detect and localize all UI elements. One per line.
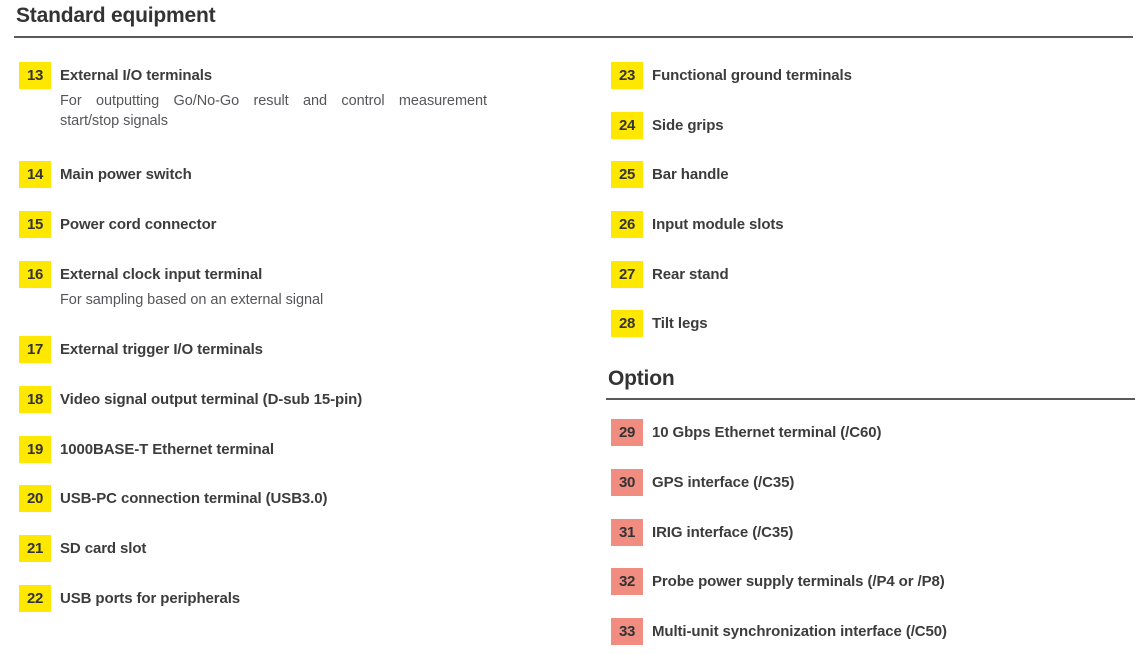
- item-description: For outputting Go/No-Go result and contr…: [60, 91, 487, 131]
- item-title: Tilt legs: [652, 310, 708, 337]
- item-number-badge: 30: [611, 469, 643, 496]
- item-number-badge: 29: [611, 419, 643, 446]
- section-heading-standard-equipment: Standard equipment: [16, 3, 215, 29]
- item-number-badge: 28: [611, 310, 643, 337]
- item-number-badge: 14: [19, 161, 51, 188]
- divider-option: [606, 398, 1135, 400]
- section-heading-option: Option: [608, 366, 674, 392]
- item-title: USB-PC connection terminal (USB3.0): [60, 485, 327, 512]
- item-title: Video signal output terminal (D-sub 15-p…: [60, 386, 362, 413]
- item-title: Main power switch: [60, 161, 192, 188]
- item-number-badge: 21: [19, 535, 51, 562]
- item-number-badge: 22: [19, 585, 51, 612]
- item-number-badge: 17: [19, 336, 51, 363]
- item-number-badge: 27: [611, 261, 643, 288]
- item-title: GPS interface (/C35): [652, 469, 794, 496]
- item-number-badge: 33: [611, 618, 643, 645]
- item-number-badge: 18: [19, 386, 51, 413]
- item-title: Probe power supply terminals (/P4 or /P8…: [652, 568, 945, 595]
- item-number-badge: 24: [611, 112, 643, 139]
- item-number-badge: 16: [19, 261, 51, 288]
- item-title: IRIG interface (/C35): [652, 519, 793, 546]
- item-title: Multi-unit synchronization interface (/C…: [652, 618, 947, 645]
- item-title: Rear stand: [652, 261, 729, 288]
- item-description: For sampling based on an external signal: [60, 290, 323, 310]
- item-number-badge: 13: [19, 62, 51, 89]
- legend-page: Standard equipment 13 External I/O termi…: [0, 0, 1140, 654]
- item-number-badge: 32: [611, 568, 643, 595]
- item-title: External trigger I/O terminals: [60, 336, 263, 363]
- item-number-badge: 15: [19, 211, 51, 238]
- item-title: SD card slot: [60, 535, 146, 562]
- item-number-badge: 31: [611, 519, 643, 546]
- item-title: 1000BASE-T Ethernet terminal: [60, 436, 274, 463]
- item-title: USB ports for peripherals: [60, 585, 240, 612]
- item-title: External clock input terminal: [60, 261, 262, 288]
- item-title: Input module slots: [652, 211, 784, 238]
- item-title: 10 Gbps Ethernet terminal (/C60): [652, 419, 881, 446]
- item-number-badge: 26: [611, 211, 643, 238]
- item-number-badge: 20: [19, 485, 51, 512]
- item-title: External I/O terminals: [60, 62, 212, 89]
- item-title: Side grips: [652, 112, 724, 139]
- item-title: Functional ground terminals: [652, 62, 852, 89]
- item-title: Power cord connector: [60, 211, 216, 238]
- item-number-badge: 23: [611, 62, 643, 89]
- divider-standard-equipment: [14, 36, 1133, 38]
- item-title: Bar handle: [652, 161, 729, 188]
- item-number-badge: 19: [19, 436, 51, 463]
- item-number-badge: 25: [611, 161, 643, 188]
